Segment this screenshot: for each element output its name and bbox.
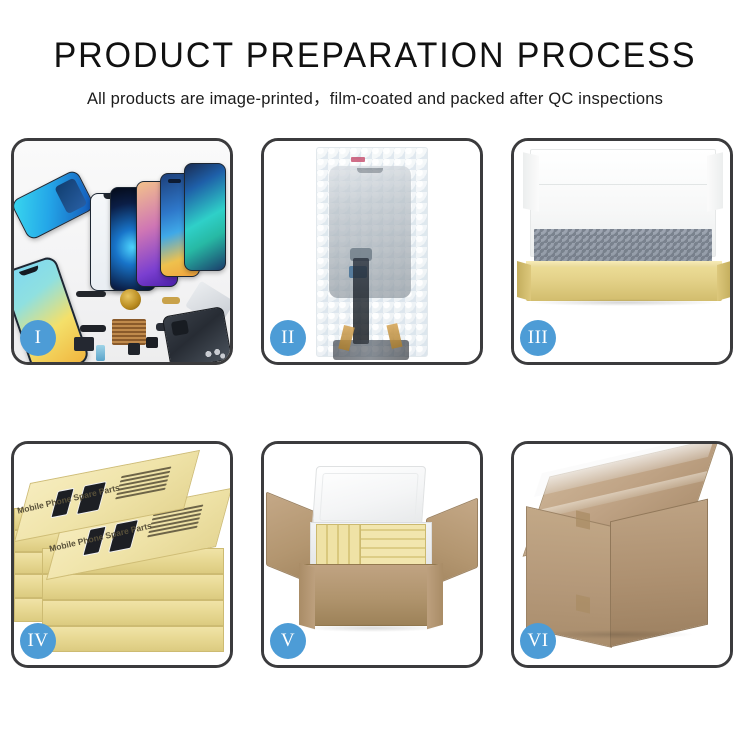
lid-flap-right bbox=[707, 152, 723, 211]
drop-shadow bbox=[530, 299, 718, 306]
box-edge-r2 bbox=[42, 574, 224, 600]
carton-front-wall bbox=[304, 564, 438, 626]
step-panel-6[interactable]: VI bbox=[511, 441, 733, 668]
phone-screen-cyan bbox=[14, 169, 96, 242]
speaker-part bbox=[76, 291, 106, 297]
step-badge-6: VI bbox=[520, 623, 556, 659]
step-badge-4: IV bbox=[20, 623, 56, 659]
step-badge-3: III bbox=[520, 320, 556, 356]
screws bbox=[204, 349, 226, 359]
lid-flap-left bbox=[523, 152, 539, 211]
lcd-assembly bbox=[329, 166, 411, 298]
step-badge-5: V bbox=[270, 623, 306, 659]
copper-mesh-part bbox=[112, 319, 146, 345]
step-badge-1: I bbox=[20, 320, 56, 356]
box-edge-r3 bbox=[42, 600, 224, 626]
page-title: PRODUCT PREPARATION PROCESS bbox=[11, 36, 739, 76]
yellow-box-tray bbox=[526, 261, 722, 301]
steps-grid: I II bbox=[11, 138, 739, 678]
tray-end-right bbox=[717, 261, 730, 301]
camera-module bbox=[146, 337, 158, 348]
tray-end-left bbox=[517, 261, 531, 301]
button-part bbox=[128, 343, 140, 355]
carton-tape-upper bbox=[576, 510, 590, 529]
pink-label-tab bbox=[351, 157, 365, 162]
step-panel-5[interactable]: V bbox=[261, 441, 483, 668]
step-badge-2: II bbox=[270, 320, 306, 356]
flex-cable-2 bbox=[74, 337, 94, 351]
step-panel-2[interactable]: II bbox=[261, 138, 483, 365]
step-panel-4[interactable]: Mobile Phone Spare Parts Mobile Phone Sp… bbox=[11, 441, 233, 668]
flex-ribbon bbox=[353, 258, 369, 344]
battery-part bbox=[96, 345, 105, 361]
step-panel-1[interactable]: I bbox=[11, 138, 233, 365]
page-subtitle: All products are image-printed，film-coat… bbox=[0, 85, 750, 109]
carton-tape-lower bbox=[576, 594, 590, 613]
flex-cable-1 bbox=[80, 325, 106, 332]
carton-right-face bbox=[610, 499, 708, 648]
drop-shadow bbox=[536, 630, 692, 639]
yellow-boxes-row-2 bbox=[360, 524, 426, 566]
step-panel-3[interactable]: III bbox=[511, 138, 733, 365]
product-preparation-infographic: PRODUCT PREPARATION PROCESS All products… bbox=[0, 0, 750, 750]
coil-part bbox=[120, 289, 141, 310]
gold-flex-cable bbox=[162, 297, 180, 304]
box-edge-r4 bbox=[42, 626, 224, 652]
bubble-wrap-bag bbox=[316, 147, 428, 357]
header: PRODUCT PREPARATION PROCESS All products… bbox=[0, 0, 750, 109]
foam-lid bbox=[312, 466, 426, 528]
phone-screen-teal bbox=[184, 163, 226, 271]
drop-shadow bbox=[306, 624, 438, 632]
